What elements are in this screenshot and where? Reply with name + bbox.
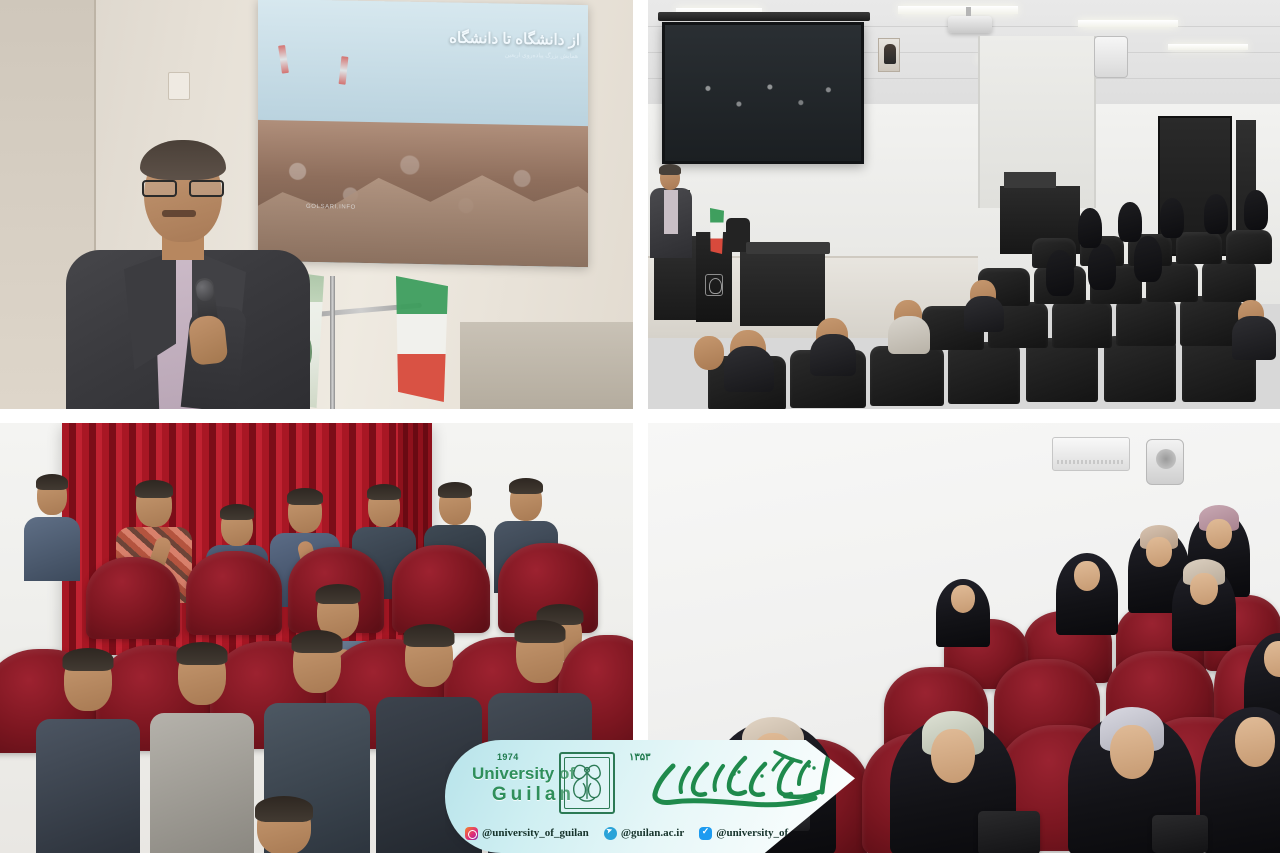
- slide-subtitle: همایش بزرگ پیاده‌روی اربعین: [505, 52, 578, 60]
- audience-seating: [648, 0, 1280, 409]
- slide-sky: [258, 0, 588, 131]
- audience-member: [1200, 691, 1280, 853]
- air-conditioner: [1052, 437, 1130, 471]
- audience-member: [936, 569, 990, 647]
- speaker-figure: [58, 138, 318, 409]
- audience-member: [236, 799, 332, 853]
- front-table: [460, 322, 633, 409]
- founding-year-gregorian: 1974: [497, 752, 519, 762]
- guilan-university-emblem-icon: [559, 752, 615, 814]
- slide-title: از دانشگاه تا دانشگاه: [449, 29, 580, 50]
- photo-panel-speaker-closeup: از دانشگاه تا دانشگاه همایش بزرگ پیاده‌ر…: [0, 0, 633, 409]
- telegram-icon: [604, 827, 617, 840]
- instagram-handle-text: @university_of_guilan: [482, 827, 589, 839]
- audience-member: [24, 477, 80, 577]
- audience-member: [36, 651, 140, 853]
- handle-instagram[interactable]: @university_of_guilan: [465, 827, 589, 840]
- photo-panel-hall-wide-shot: [648, 0, 1280, 409]
- audience-member: [1056, 543, 1118, 635]
- wall-speaker: [1146, 439, 1184, 485]
- panel-gutter-vertical: [633, 0, 648, 853]
- audience-member: [1172, 555, 1236, 651]
- flag-pole: [330, 276, 335, 409]
- iran-flag: [396, 276, 448, 402]
- handle-telegram[interactable]: @guilan.ac.ir: [604, 827, 684, 840]
- social-handles: @university_of_guilan @guilan.ac.ir @uni…: [465, 822, 805, 844]
- telegram-handle-text: @guilan.ac.ir: [621, 827, 684, 839]
- instagram-icon: [465, 827, 478, 840]
- handbag: [978, 811, 1040, 853]
- speaker-mouth: [162, 210, 196, 217]
- speaker-hand: [188, 314, 229, 366]
- twitter-verified-icon: [699, 827, 712, 840]
- persian-university-name: [633, 746, 839, 812]
- eyeglasses-icon: [142, 180, 224, 193]
- speaker-hair: [140, 140, 226, 180]
- photo-collage: از دانشگاه تا دانشگاه همایش بزرگ پیاده‌ر…: [0, 0, 1280, 853]
- handbag: [1152, 815, 1208, 853]
- light-switch: [168, 72, 190, 100]
- panel-gutter-horizontal: [0, 409, 1280, 423]
